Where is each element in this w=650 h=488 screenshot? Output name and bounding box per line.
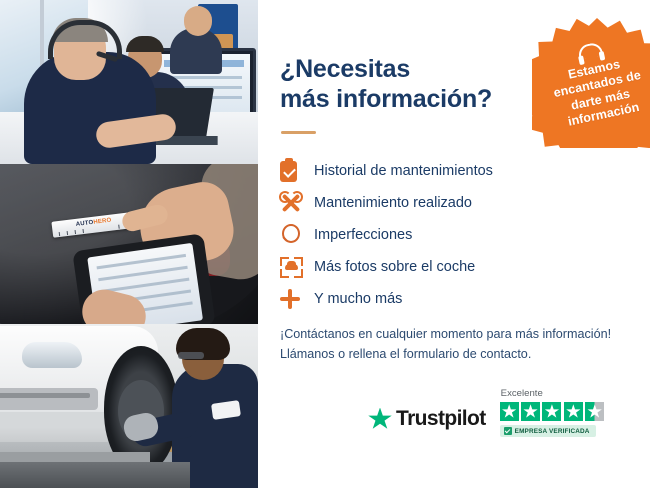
star-filled [564,402,583,421]
feature-label: Historial de mantenimientos [314,164,493,179]
page-title: ¿Necesitas más información? [280,54,520,114]
rating-label: Excelente [500,388,543,399]
tools-cross-icon [280,192,314,214]
page-title-line2: más información? [280,84,520,114]
content-panel: Estamos encantados de darte más informac… [258,0,650,488]
magnifier-icon [280,224,314,246]
trustpilot-rating: Excelente EMPRESA VERIFICADA [500,388,605,437]
feature-item-mas: Y mucho más [280,283,640,315]
star-rating [500,402,605,421]
ruler-brand-label: AUTOHERO [76,218,112,228]
car-inspection-photo: AUTOHERO [0,164,258,324]
car-frame-icon [280,257,314,278]
contact-copy-line2: Llámanos o rellena el formulario de cont… [280,344,630,364]
car-headlight [22,342,82,368]
info-promo-card: AUTOHERO [0,0,650,488]
feature-item-imperfecciones: Imperfecciones [280,219,640,251]
photo-column: AUTOHERO [0,0,258,488]
check-icon [504,427,512,435]
lift-arm [0,452,150,462]
title-divider [281,131,316,134]
star-filled [542,402,561,421]
call-center-agents-photo [0,0,258,164]
trustpilot-wordmark: Trustpilot [396,407,486,431]
safety-glasses [178,352,204,359]
feature-list: Historial de mantenimientos Mantenimient… [280,155,640,315]
car-grille [0,388,98,410]
background-agent-head [184,6,212,36]
headset-icon [577,41,603,60]
feature-label: Más fotos sobre el coche [314,260,475,275]
mechanic-wheel-photo [0,324,258,488]
car-bumper [0,412,114,428]
verified-company-badge: EMPRESA VERIFICADA [500,425,596,437]
feature-item-fotos: Más fotos sobre el coche [280,251,640,283]
feature-label: Y mucho más [314,292,402,307]
second-agent-hair [126,36,164,52]
feature-label: Imperfecciones [314,228,412,243]
trustpilot-logo[interactable]: Trustpilot [368,407,486,437]
verified-label: EMPRESA VERIFICADA [515,428,590,435]
promo-starburst-badge: Estamos encantados de darte más informac… [532,18,650,148]
trustpilot-block[interactable]: Trustpilot Excelente EMPRESA VERIFICADA [368,388,604,437]
clipboard-check-icon [280,161,314,182]
feature-item-historial: Historial de mantenimientos [280,155,640,187]
trustpilot-star-icon [368,408,392,431]
star-half [585,402,604,421]
plus-icon [280,289,314,309]
feature-item-mantenimiento: Mantenimiento realizado [280,187,640,219]
star-filled [521,402,540,421]
star-filled [500,402,519,421]
feature-label: Mantenimiento realizado [314,196,472,211]
page-title-line1: ¿Necesitas [280,54,520,84]
contact-copy: ¡Contáctanos en cualquier momento para m… [280,324,630,365]
badge-text: Estamos encantados de darte más informac… [538,51,650,134]
contact-copy-line1: ¡Contáctanos en cualquier momento para m… [280,324,630,344]
car-lift-platform [0,462,190,488]
